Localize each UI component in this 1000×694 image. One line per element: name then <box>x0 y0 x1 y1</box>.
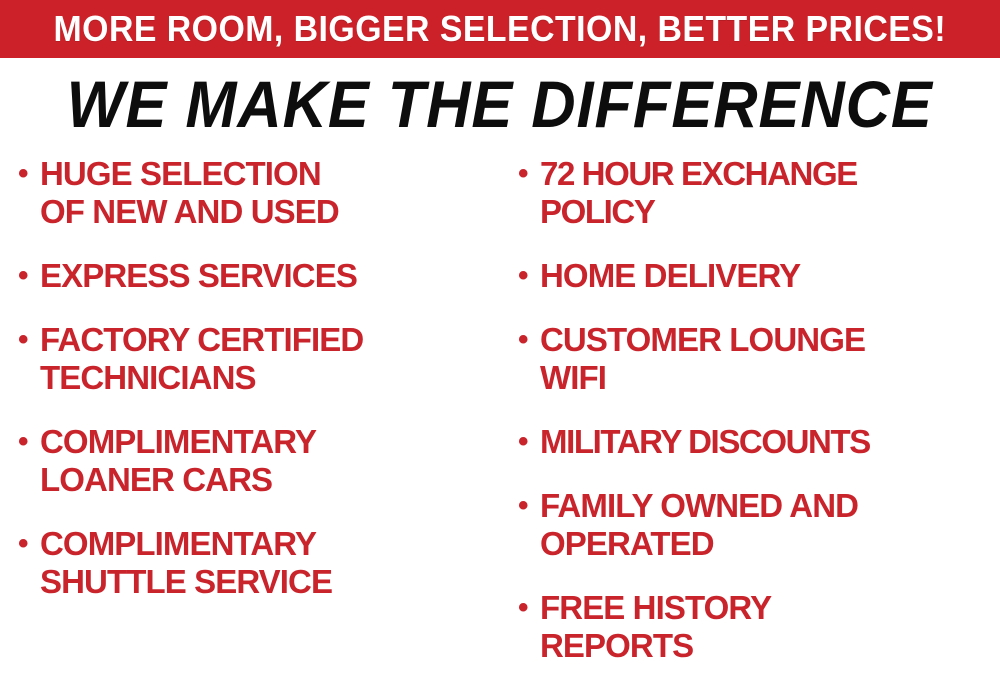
list-item-label: CUSTOMER LOUNGE WIFI <box>540 321 998 397</box>
bullet-dot-icon: • <box>18 423 40 461</box>
benefits-columns: • HUGE SELECTION OF NEW AND USED • EXPRE… <box>0 155 1000 694</box>
bullet-dot-icon: • <box>18 155 40 193</box>
bullet-dot-icon: • <box>18 257 40 295</box>
list-item: • HOME DELIVERY <box>518 257 998 295</box>
banner-headline-text: MORE ROOM, BIGGER SELECTION, BETTER PRIC… <box>54 11 947 47</box>
list-item-label: FAMILY OWNED AND OPERATED <box>540 487 998 563</box>
list-item: • HUGE SELECTION OF NEW AND USED <box>18 155 498 231</box>
bullet-dot-icon: • <box>518 155 540 193</box>
headline-container: WE MAKE THE DIFFERENCE <box>0 62 1000 146</box>
list-item: • MILITARY DISCOUNTS <box>518 423 998 461</box>
page-title: WE MAKE THE DIFFERENCE <box>67 71 933 137</box>
bullet-dot-icon: • <box>518 257 540 295</box>
list-item-label: HOME DELIVERY <box>540 257 998 295</box>
bullet-dot-icon: • <box>518 487 540 525</box>
list-item: • COMPLIMENTARY LOANER CARS <box>18 423 498 499</box>
benefits-column-right: • 72 HOUR EXCHANGE POLICY • HOME DELIVER… <box>502 155 1000 691</box>
bullet-dot-icon: • <box>18 321 40 359</box>
list-item-label: COMPLIMENTARY LOANER CARS <box>40 423 498 499</box>
list-item-label: 72 HOUR EXCHANGE POLICY <box>540 155 998 231</box>
list-item-label: COMPLIMENTARY SHUTTLE SERVICE <box>40 525 498 601</box>
list-item: • 72 HOUR EXCHANGE POLICY <box>518 155 998 231</box>
bullet-dot-icon: • <box>518 321 540 359</box>
bullet-dot-icon: • <box>18 525 40 563</box>
list-item: • FACTORY CERTIFIED TECHNICIANS <box>18 321 498 397</box>
list-item-label: FACTORY CERTIFIED TECHNICIANS <box>40 321 498 397</box>
promo-banner: MORE ROOM, BIGGER SELECTION, BETTER PRIC… <box>0 0 1000 58</box>
list-item: • FREE HISTORY REPORTS <box>518 589 998 665</box>
bullet-dot-icon: • <box>518 423 540 461</box>
list-item: • EXPRESS SERVICES <box>18 257 498 295</box>
list-item-label: MILITARY DISCOUNTS <box>540 423 998 461</box>
benefits-column-left: • HUGE SELECTION OF NEW AND USED • EXPRE… <box>0 155 502 627</box>
list-item: • COMPLIMENTARY SHUTTLE SERVICE <box>18 525 498 601</box>
list-item-label: EXPRESS SERVICES <box>40 257 498 295</box>
list-item-label: HUGE SELECTION OF NEW AND USED <box>40 155 498 231</box>
list-item-label: FREE HISTORY REPORTS <box>540 589 998 665</box>
bullet-dot-icon: • <box>518 589 540 627</box>
promo-flyer: MORE ROOM, BIGGER SELECTION, BETTER PRIC… <box>0 0 1000 694</box>
list-item: • CUSTOMER LOUNGE WIFI <box>518 321 998 397</box>
list-item: • FAMILY OWNED AND OPERATED <box>518 487 998 563</box>
